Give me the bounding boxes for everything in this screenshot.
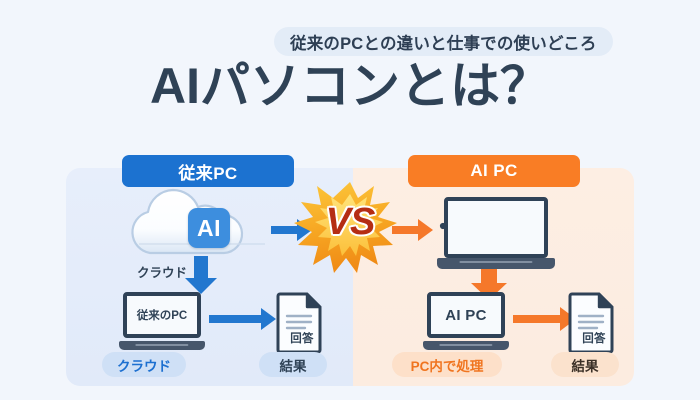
document-ai-label: 回答 — [570, 330, 618, 346]
tag-ai-result: 結果 — [551, 352, 619, 377]
vs-label: VS — [296, 183, 404, 261]
tag-legacy-cloud: クラウド — [102, 352, 186, 377]
document-legacy-label: 回答 — [278, 330, 326, 346]
cloud-ai-badge: AI — [188, 208, 230, 248]
laptop-ai-screen — [444, 197, 548, 258]
laptop-aipc: AI PC — [423, 292, 509, 350]
infographic-canvas: 従来のPCとの違いと仕事での使いどころ AIパソコンとは？ — [0, 0, 700, 400]
subtitle-badge: 従来のPCとの違いと仕事での使いどころ — [274, 27, 613, 56]
document-legacy: 回答 — [278, 292, 326, 350]
laptop-aipc-label: AI PC — [445, 307, 487, 324]
laptop-ai-chip — [437, 197, 555, 269]
laptop-legacy-label: 従来のPC — [137, 307, 187, 323]
laptop-legacy-screen: 従来のPC — [123, 292, 201, 338]
laptop-aipc-screen: AI PC — [427, 292, 505, 338]
laptop-ai-base — [437, 258, 555, 269]
cloud-ai-group: AI — [128, 196, 274, 262]
page-title: AIパソコンとは？ — [0, 60, 700, 113]
tag-legacy-result: 結果 — [259, 352, 327, 377]
laptop-legacy-pc: 従来のPC — [119, 292, 205, 350]
panel-header-legacy-pc: 従来PC — [122, 155, 294, 187]
panel-header-ai-pc: AI PC — [408, 155, 580, 187]
laptop-aipc-base — [423, 341, 509, 350]
vs-badge: VS — [296, 183, 404, 261]
flow-label-cloud: クラウド — [137, 262, 187, 281]
tag-ai-local-processing: PC内で処理 — [392, 352, 502, 377]
document-ai: 回答 — [570, 292, 618, 350]
laptop-legacy-base — [119, 341, 205, 350]
